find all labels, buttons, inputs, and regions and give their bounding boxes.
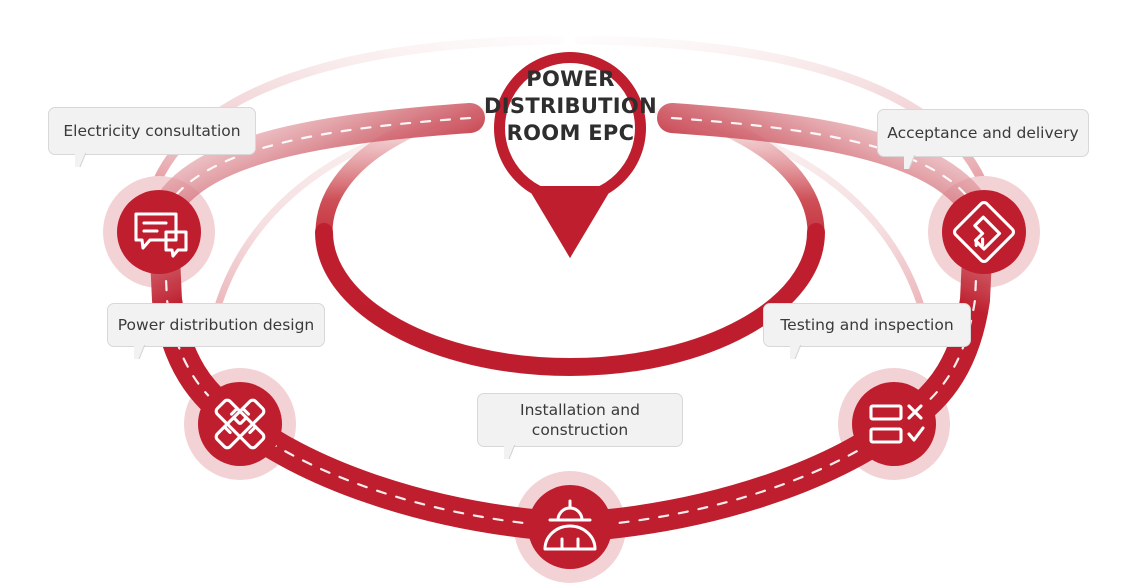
callout-tail [904,155,916,169]
node-step-1[interactable] [117,190,201,274]
label-step-3-text-line-2: construction [532,420,628,440]
center-map-pin [494,52,646,258]
node-step-2[interactable] [198,382,282,466]
label-step-2-text: Power distribution design [118,316,314,335]
callout-tail [134,345,146,359]
label-step-1-text: Electricity consultation [63,122,240,141]
callout-tail [504,445,516,459]
node-step-3[interactable] [528,485,612,569]
roadmap-paths-layer [0,0,1139,587]
label-step-4[interactable]: Testing and inspection [763,303,971,347]
roadmap-diagram: POWER DISTRIBUTION ROOM EPC Electricity … [0,0,1139,587]
label-step-3-text-line-1: Installation and [520,400,640,420]
callout-tail [790,345,802,359]
label-step-5[interactable]: Acceptance and delivery [877,109,1089,157]
label-step-4-text: Testing and inspection [780,316,953,335]
callout-tail [75,153,87,167]
label-step-1[interactable]: Electricity consultation [48,107,256,155]
label-step-5-text: Acceptance and delivery [887,124,1078,143]
node-step-5[interactable] [942,190,1026,274]
label-step-3[interactable]: Installation and construction [477,393,683,447]
label-step-2[interactable]: Power distribution design [107,303,325,347]
node-step-4[interactable] [852,382,936,466]
